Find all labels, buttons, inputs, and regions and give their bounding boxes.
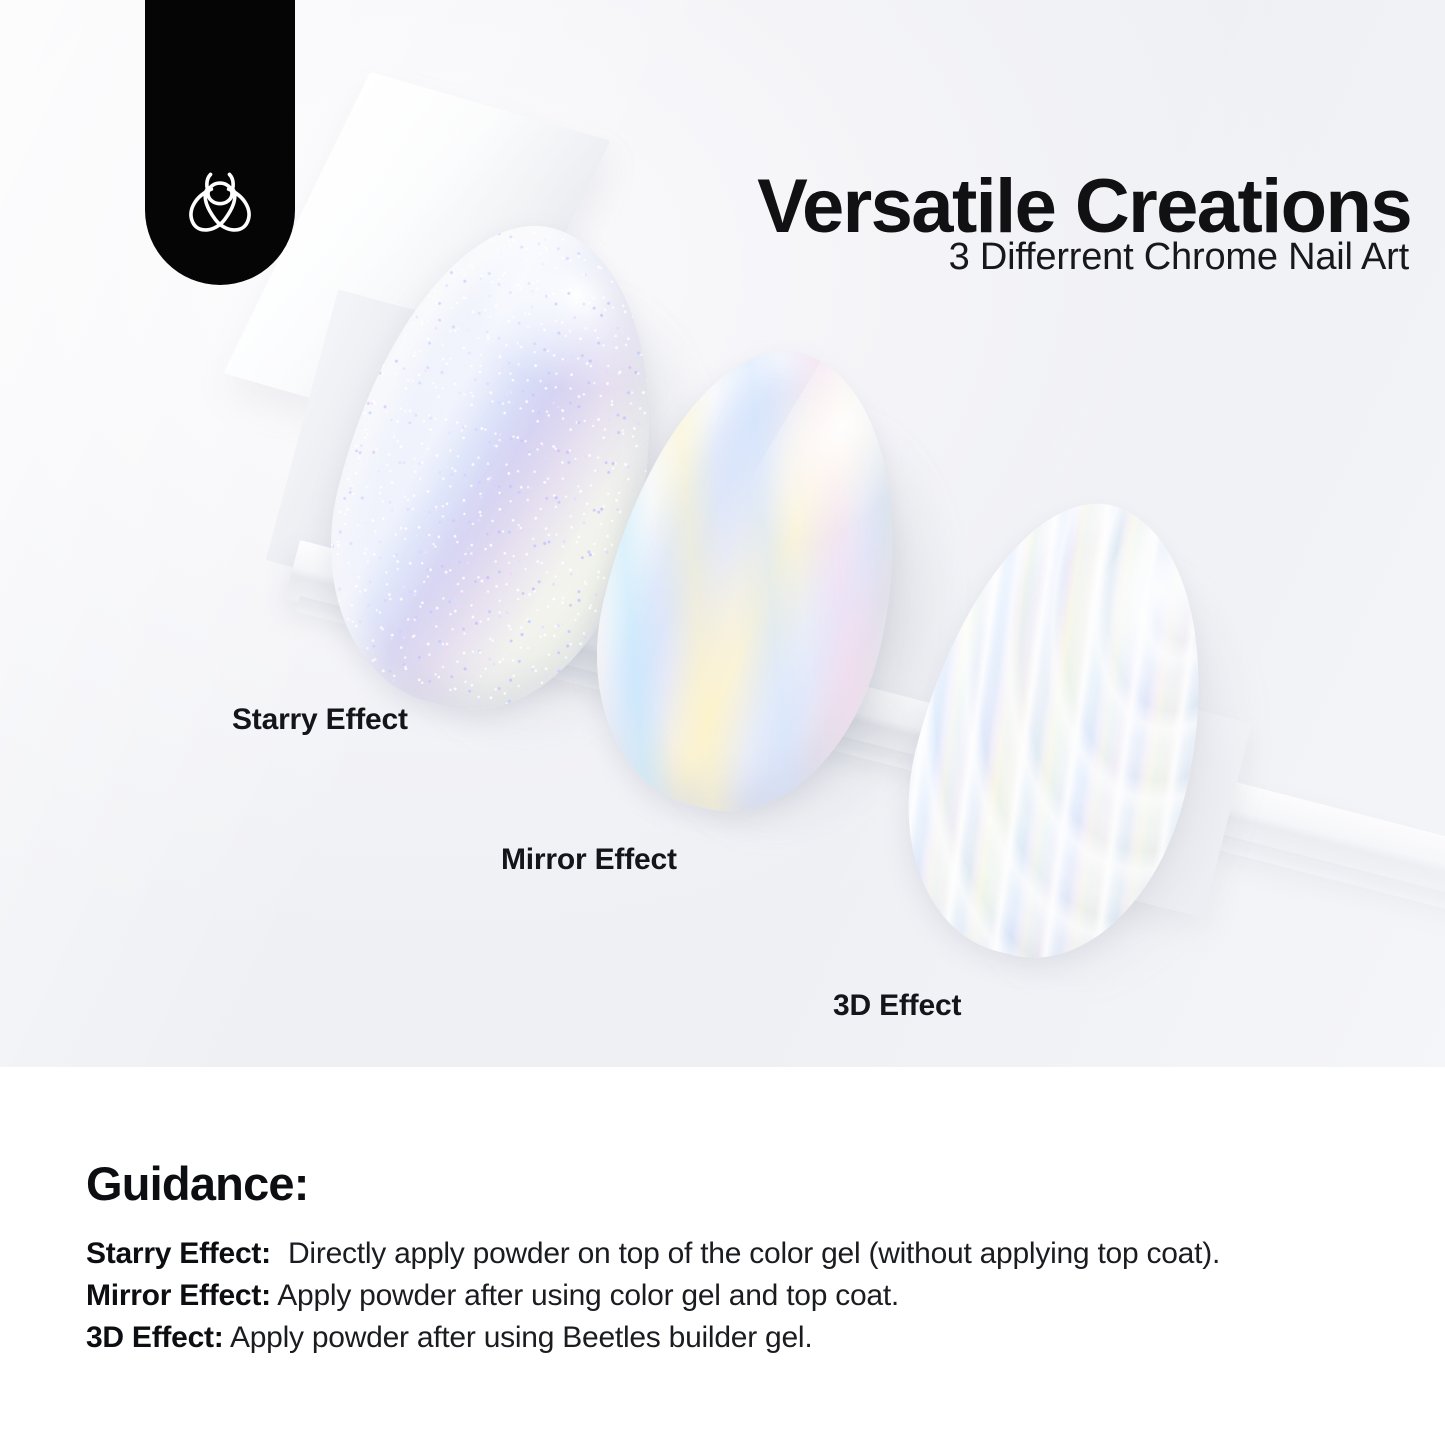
guidance-label-3d: 3D Effect: — [86, 1321, 224, 1354]
caption-3d-effect: 3D Effect — [833, 989, 961, 1023]
caption-mirror-effect: Mirror Effect — [501, 843, 677, 877]
guidance-item-starry: Starry Effect:Directly apply powder on t… — [86, 1233, 1396, 1275]
guidance-text-3d: Apply powder after using Beetles builder… — [224, 1321, 813, 1354]
guidance-text-starry: Directly apply powder on top of the colo… — [280, 1237, 1220, 1270]
brand-logo-tab — [145, 0, 295, 285]
guidance-item-3d: 3D Effect:Apply powder after using Beetl… — [86, 1317, 1396, 1359]
guidance-list: Starry Effect:Directly apply powder on t… — [86, 1233, 1396, 1359]
caption-starry-effect: Starry Effect — [232, 703, 408, 737]
beetle-logo-icon — [177, 165, 263, 251]
product-infographic: Versatile Creations 3 Differrent Chrome … — [0, 0, 1445, 1445]
guidance-section: Guidance: Starry Effect:Directly apply p… — [0, 1067, 1445, 1445]
guidance-label-starry: Starry Effect: — [86, 1237, 271, 1270]
guidance-item-mirror: Mirror Effect:Apply powder after using c… — [86, 1275, 1396, 1317]
guidance-text-mirror: Apply powder after using color gel and t… — [271, 1279, 899, 1312]
guidance-heading: Guidance: — [86, 1156, 309, 1211]
guidance-label-mirror: Mirror Effect: — [86, 1279, 271, 1312]
hero-photo-section: Versatile Creations 3 Differrent Chrome … — [0, 0, 1445, 1067]
